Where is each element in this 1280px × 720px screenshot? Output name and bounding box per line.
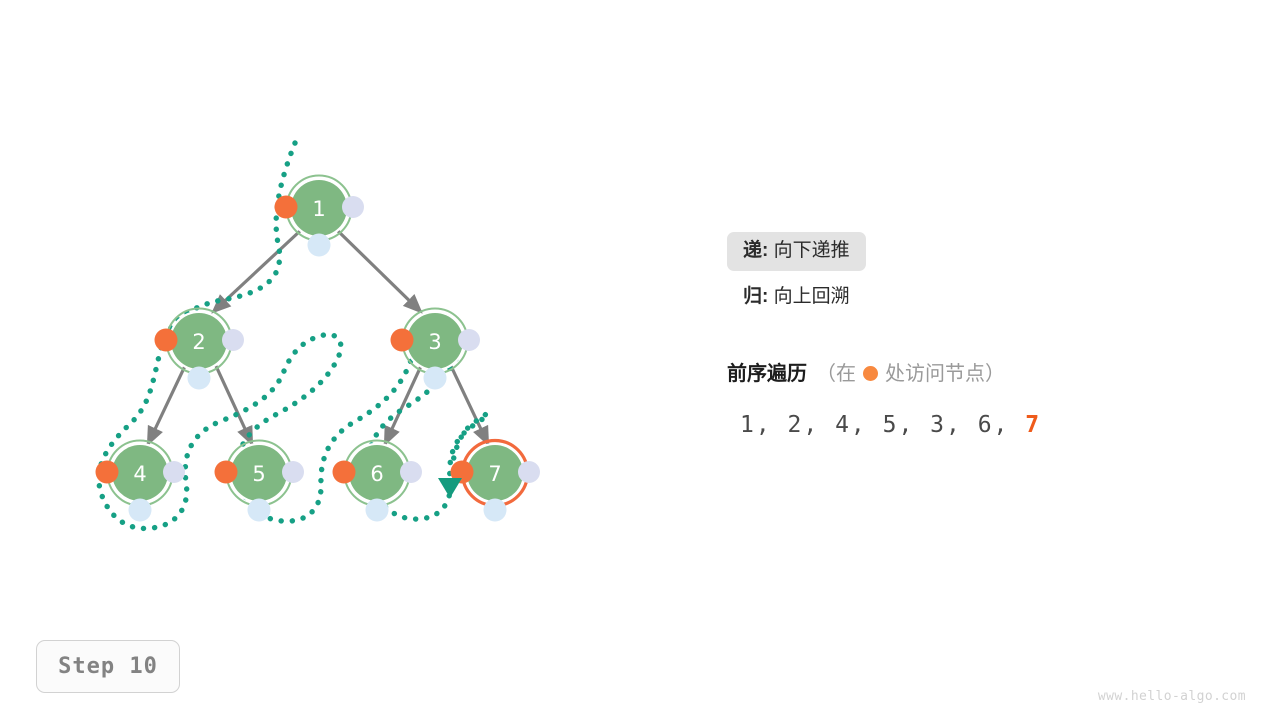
node-visit-dot	[275, 196, 298, 219]
edge-2-5	[216, 366, 252, 444]
traversal-order-name: 前序遍历	[727, 363, 807, 385]
current-pointer-icon	[438, 478, 462, 498]
tree-node-7: 7	[451, 441, 541, 522]
node-right-slot-dot	[518, 461, 540, 483]
step-badge-label: Step 10	[58, 654, 158, 679]
node-visit-dot	[391, 329, 414, 352]
node-label: 3	[428, 330, 441, 354]
legend-lead-recurse: 递:	[743, 240, 768, 261]
node-visit-dot	[333, 461, 356, 484]
edge-1-3	[338, 231, 421, 312]
node-label: 7	[488, 462, 501, 486]
node-bottom-slot-dot	[424, 367, 447, 390]
node-bottom-slot-dot	[129, 499, 152, 522]
node-visit-dot	[96, 461, 119, 484]
tree-node-2: 2	[155, 309, 245, 390]
tree-node-4: 4	[96, 441, 186, 522]
node-label: 6	[370, 462, 383, 486]
watermark: www.hello-algo.com	[1098, 689, 1246, 704]
step-badge: Step 10	[36, 640, 180, 693]
node-right-slot-dot	[222, 329, 244, 351]
legend-tail-return: 向上回溯	[774, 286, 850, 307]
binary-tree-diagram: 1234567	[0, 0, 1280, 720]
node-bottom-slot-dot	[188, 367, 211, 390]
node-label: 4	[133, 462, 146, 486]
node-right-slot-dot	[400, 461, 422, 483]
tree-node-6: 6	[333, 441, 423, 522]
traversal-order-open-paren: （在	[816, 363, 856, 385]
traversal-sequence: 1, 2, 4, 5, 3, 6, 7	[740, 412, 1041, 438]
node-label: 1	[312, 197, 325, 221]
node-right-slot-dot	[163, 461, 185, 483]
edge-3-7	[451, 366, 488, 444]
traversal-sequence-visited: 1, 2, 4, 5, 3, 6,	[740, 412, 1009, 438]
traversal-order-title: 前序遍历（在处访问节点）	[727, 364, 1005, 384]
edge-2-4	[148, 366, 185, 444]
node-bottom-slot-dot	[308, 234, 331, 257]
node-right-slot-dot	[458, 329, 480, 351]
legend-tail-recurse: 向下递推	[774, 240, 850, 261]
node-bottom-slot-dot	[366, 499, 389, 522]
node-bottom-slot-dot	[484, 499, 507, 522]
tree-node-5: 5	[215, 441, 305, 522]
tree-node-3: 3	[391, 309, 481, 390]
legend-panel: 递: 向下递推 归: 向上回溯	[727, 232, 1247, 317]
tree-nodes: 1234567	[96, 176, 541, 522]
node-visit-dot	[155, 329, 178, 352]
legend-row-return: 归: 向上回溯	[727, 278, 866, 317]
node-right-slot-dot	[342, 196, 364, 218]
node-visit-dot	[215, 461, 238, 484]
edge-1-2	[213, 231, 300, 312]
traversal-order-close-paren: 处访问节点）	[885, 363, 1005, 385]
legend-spacer	[727, 271, 1247, 278]
visit-marker-icon	[863, 366, 878, 381]
legend-lead-return: 归:	[743, 286, 768, 307]
node-right-slot-dot	[282, 461, 304, 483]
traversal-sequence-current: 7	[1025, 412, 1041, 438]
legend-row-recurse: 递: 向下递推	[727, 232, 866, 271]
illustration-canvas: 1234567 递: 向下递推 归: 向上回溯 前序遍历（在处访问节点） 1, …	[0, 0, 1280, 720]
node-bottom-slot-dot	[248, 499, 271, 522]
edge-3-6	[385, 366, 421, 444]
node-label: 5	[252, 462, 265, 486]
node-label: 2	[192, 330, 205, 354]
